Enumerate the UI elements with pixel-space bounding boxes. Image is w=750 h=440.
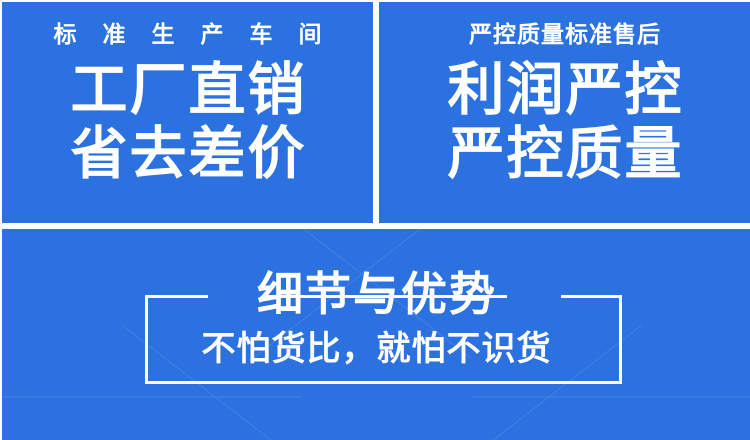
- promo-banner: 标 准 生 产 车 间 工厂直销 省去差价 严控质量标准售后 利润严控 严控质量: [0, 0, 750, 440]
- panel-factory-direct-headline-line1: 工厂直销: [69, 61, 307, 119]
- panel-factory-direct-eyebrow: 标 准 生 产 车 间: [44, 24, 330, 47]
- panel-factory-direct: 标 准 生 产 车 间 工厂直销 省去差价: [2, 2, 373, 223]
- panel-details-advantages: 细节与优势 不怕货比，就怕不识货: [2, 229, 750, 440]
- panel-details-advantages-headline: 细节与优势: [2, 271, 750, 317]
- panel-quality-control-headline-line1: 利润严控: [446, 61, 684, 119]
- panel-quality-control-headline-line2: 严控质量: [446, 125, 684, 183]
- panel-quality-control-eyebrow: 严控质量标准售后: [468, 24, 661, 47]
- panel-details-advantages-subline: 不怕货比，就怕不识货: [2, 332, 750, 366]
- panel-factory-direct-content: 标 准 生 产 车 间 工厂直销 省去差价: [2, 2, 373, 223]
- panel-quality-control: 严控质量标准售后 利润严控 严控质量: [379, 2, 750, 223]
- panel-quality-control-content: 严控质量标准售后 利润严控 严控质量: [379, 2, 750, 223]
- panel-details-advantages-content: 细节与优势 不怕货比，就怕不识货: [2, 229, 750, 440]
- panel-factory-direct-headline-line2: 省去差价: [69, 125, 307, 183]
